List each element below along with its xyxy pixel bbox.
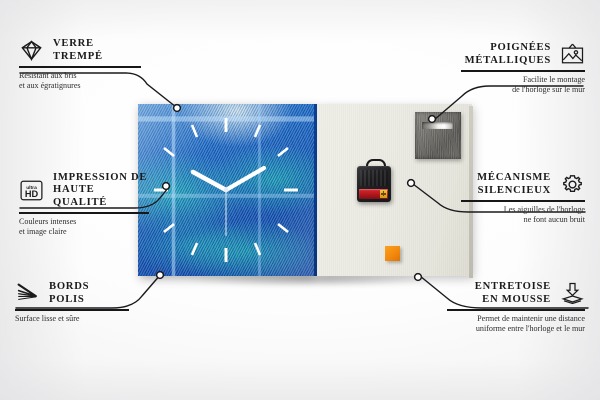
callout-divider [447, 309, 585, 311]
polished-edge-icon [15, 281, 40, 306]
callout-divider [15, 309, 129, 311]
callout-header: ultra HD IMPRESSION DE HAUTE QUALITÉ [19, 172, 149, 209]
callout-title: VERRE TREMPÉ [53, 38, 103, 63]
callout-divider [19, 66, 141, 68]
callout-header: POIGNÉES MÉTALLIQUES [461, 42, 585, 67]
foam-spacer [385, 246, 400, 261]
callout-description: Résistant aux bris et aux égratignures [19, 71, 141, 91]
callout-verre-trempe: VERRE TREMPÉ Résistant aux bris et aux é… [19, 38, 141, 91]
clock-face-panel [138, 104, 314, 276]
infographic-canvas: VERRE TREMPÉ Résistant aux bris et aux é… [0, 0, 600, 400]
callout-divider [461, 200, 585, 202]
battery [359, 189, 388, 199]
callout-header: MÉCANISME SILENCIEUX [461, 172, 585, 197]
callout-title: ENTRETOISE EN MOUSSE [475, 281, 551, 306]
bracket-slot [422, 122, 453, 129]
foam-spacer-arrow-icon [560, 281, 585, 306]
svg-text:HD: HD [25, 189, 39, 199]
ultra-hd-icon: ultra HD [19, 178, 44, 203]
callout-mecanisme-silencieux: MÉCANISME SILENCIEUX Les aiguilles de l'… [461, 172, 585, 225]
callout-description: Permet de maintenir une distance uniform… [447, 314, 585, 334]
diamond-icon [19, 38, 44, 63]
callout-divider [461, 70, 585, 72]
clock-back-panel [317, 104, 472, 276]
callout-description: Couleurs intenses et image claire [19, 217, 149, 237]
gear-icon [560, 172, 585, 197]
callout-bords-polis: BORDS POLIS Surface lisse et sûre [15, 281, 129, 324]
wall-mount-frame-icon [560, 42, 585, 67]
callout-header: ENTRETOISE EN MOUSSE [447, 281, 585, 306]
clock-dial [138, 104, 314, 276]
battery-terminal-icon [380, 190, 387, 198]
callout-title: MÉCANISME SILENCIEUX [477, 172, 551, 197]
callout-description: Les aiguilles de l'horloge ne font aucun… [461, 205, 585, 225]
callout-header: BORDS POLIS [15, 281, 129, 306]
mechanism-ridges [360, 170, 388, 186]
callout-title: POIGNÉES MÉTALLIQUES [465, 42, 551, 67]
callout-title: IMPRESSION DE HAUTE QUALITÉ [53, 172, 149, 209]
callout-description: Facilite le montage de l'horloge sur le … [461, 75, 585, 95]
glass-thickness-edge [314, 104, 317, 276]
callout-header: VERRE TREMPÉ [19, 38, 141, 63]
clock-hands [193, 168, 264, 236]
callout-poignees-metalliques: POIGNÉES MÉTALLIQUES Facilite le montage… [461, 42, 585, 95]
callout-entretoise-en-mousse: ENTRETOISE EN MOUSSE Permet de maintenir… [447, 281, 585, 334]
metal-bracket [415, 112, 461, 159]
callout-divider [19, 212, 149, 214]
callout-title: BORDS POLIS [49, 281, 89, 306]
product-image [138, 104, 472, 276]
callout-description: Surface lisse et sûre [15, 314, 129, 324]
mechanism-body [357, 166, 391, 202]
clock-mechanism [357, 164, 391, 202]
callout-impression-haute-qualite: ultra HD IMPRESSION DE HAUTE QUALITÉ Cou… [19, 172, 149, 238]
